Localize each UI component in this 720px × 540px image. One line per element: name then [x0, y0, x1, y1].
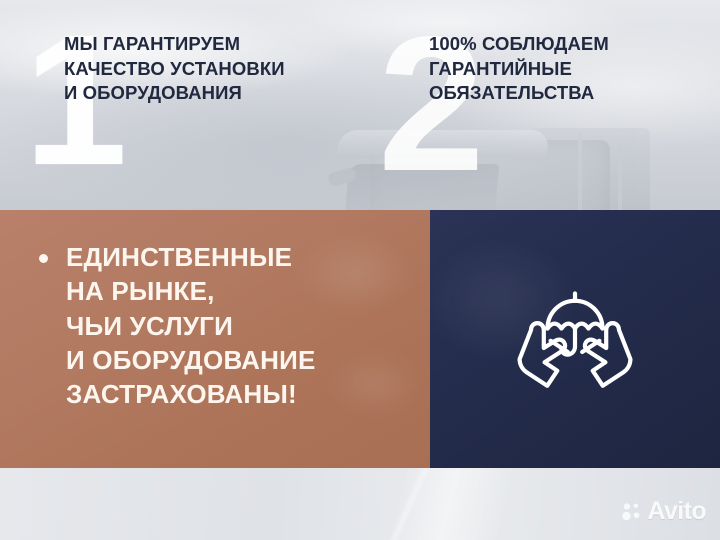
panel-icon: [430, 210, 720, 468]
headline-guarantee-quality: МЫ ГАРАНТИРУЕМ КАЧЕСТВО УСТАНОВКИ И ОБОР…: [64, 32, 364, 106]
panel-row: ЕДИНСТВЕННЫЕ НА РЫНКЕ, ЧЬИ УСЛУГИ И ОБОР…: [0, 210, 720, 468]
headline-warranty-obligations: 100% СОБЛЮДАЕМ ГАРАНТИЙНЫЕ ОБЯЗАТЕЛЬСТВА: [429, 32, 691, 106]
avito-watermark: Avito: [621, 499, 706, 524]
umbrella-in-hands-icon: [511, 278, 639, 400]
background-bottom-band: [0, 466, 720, 540]
panel-insurance-claim: ЕДИНСТВЕННЫЕ НА РЫНКЕ, ЧЬИ УСЛУГИ И ОБОР…: [0, 210, 430, 468]
promo-banner: 1 2 МЫ ГАРАНТИРУЕМ КАЧЕСТВО УСТАНОВКИ И …: [0, 0, 720, 540]
avito-logo-icon: [621, 501, 643, 523]
bullet-dot-icon: [39, 254, 48, 263]
avito-wordmark: Avito: [647, 499, 706, 524]
claim-text: ЕДИНСТВЕННЫЕ НА РЫНКЕ, ЧЬИ УСЛУГИ И ОБОР…: [66, 240, 416, 412]
